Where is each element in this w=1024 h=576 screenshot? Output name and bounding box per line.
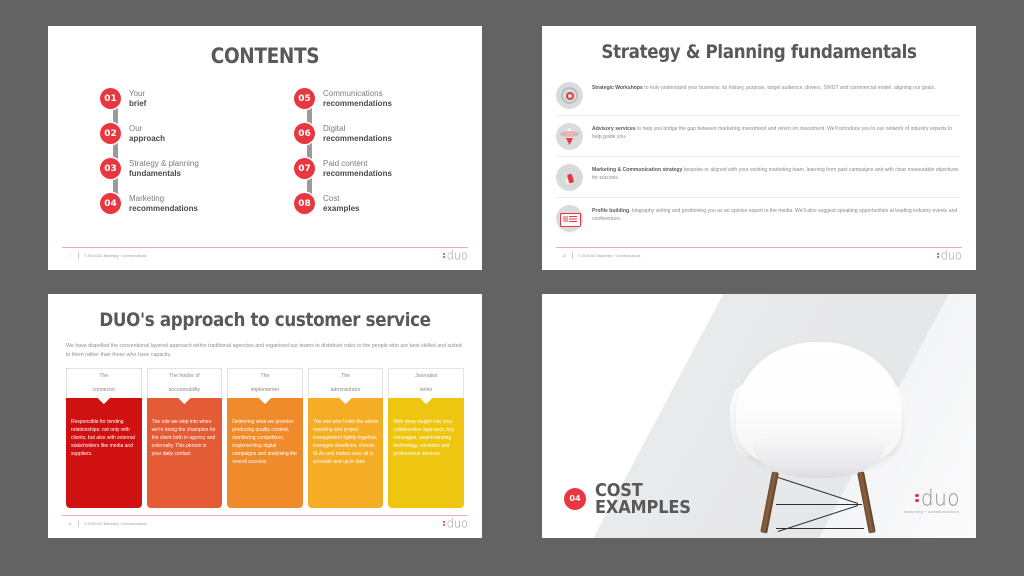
list-item[interactable]: 03 Strategy & planning fundamentals (100, 151, 264, 186)
contents-item-line2: approach (129, 134, 165, 143)
footer-divider (78, 252, 79, 259)
feature-list: Strategic Workshops to truly understand … (542, 75, 976, 238)
contents-item-line1: Strategy & planning (129, 159, 199, 168)
contents-item-line1: Marketing (129, 194, 198, 203)
target-icon (556, 82, 583, 109)
role-title-line1: The (328, 373, 364, 380)
role-card-body: The role we step into when we're being t… (147, 398, 223, 508)
contents-column-right: 05 Communications recommendations 06 Dig… (294, 81, 458, 221)
contents-item-line1: Digital (323, 124, 392, 133)
contents-item-line1: Paid content (323, 159, 392, 168)
role-title-line2: writer (412, 387, 440, 394)
contents-item-line2: recommendations (323, 169, 392, 178)
role-card-title: The administrator (325, 373, 367, 395)
slide-contents[interactable]: CONTENTS 01 Your brief 02 Our approach (48, 26, 482, 270)
role-title-line2: implementer (248, 387, 283, 394)
role-card[interactable]: The connector Responsible for tending re… (66, 368, 142, 508)
list-item[interactable]: 06 Digital recommendations (294, 116, 458, 151)
duo-logo-large: duo marketing + communications (904, 488, 960, 514)
contents-item-line2: brief (129, 99, 146, 108)
feature-lead: Strategic Workshops (592, 85, 643, 91)
role-card-description: The one who holds the admin reporting an… (313, 419, 379, 466)
role-card-row: The connector Responsible for tending re… (66, 368, 464, 508)
role-title-line2: accountability (166, 387, 203, 394)
contents-item-line2: recommendations (129, 204, 198, 213)
role-title-line1: The (248, 373, 283, 380)
role-card-description: With deep insight into your collaborativ… (393, 419, 459, 458)
feature-lead: Profile building (592, 208, 629, 214)
role-card-header: The connector (66, 368, 142, 398)
slide-strategy-planning[interactable]: Strategy & Planning fundamentals Strateg… (542, 26, 976, 270)
role-title-line2: administrator (328, 387, 364, 394)
role-card-body: Delivering what we promise: producing qu… (227, 398, 303, 508)
step-number-badge: 06 (294, 123, 315, 144)
role-title-line1: The holder of (166, 373, 203, 380)
contents-item-line1: Communications (323, 89, 392, 98)
step-number-badge: 01 (100, 88, 121, 109)
contents-item-line1: Our (129, 124, 165, 133)
logo-dots-icon (937, 253, 939, 259)
list-item[interactable]: Strategic Workshops to truly understand … (556, 75, 960, 116)
footer-divider (572, 252, 573, 259)
feature-text: Strategic Workshops to truly understand … (592, 81, 935, 93)
list-item[interactable]: 01 Your brief (100, 81, 264, 116)
feature-body: to truly understand your business, its h… (643, 85, 936, 91)
chair-wire-brace (776, 528, 864, 529)
role-card-description: Responsible for tending relationships: n… (71, 419, 137, 458)
role-card[interactable]: The administrator The one who holds the … (308, 368, 384, 508)
feature-body: to help you bridge the gap between marke… (592, 126, 952, 140)
feature-body: , biography writing and positioning you … (592, 208, 957, 222)
step-number-badge: 08 (294, 193, 315, 214)
list-item[interactable]: 07 Paid content recommendations (294, 151, 458, 186)
role-title-line1: Journalist (412, 373, 440, 380)
feature-text: Advisory services to help you bridge the… (592, 122, 960, 142)
footer-divider (78, 520, 79, 527)
slide-thumbnail-grid: CONTENTS 01 Your brief 02 Our approach (0, 0, 1024, 576)
footer-page-number: 11 (62, 522, 78, 526)
role-title-line2: connector (89, 387, 118, 394)
role-card-title: The connector (86, 373, 121, 395)
logo-dots-icon (443, 521, 445, 527)
role-card-title: The holder of accountability (163, 373, 206, 395)
list-item[interactable]: Marketing & Communication strategy bespo… (556, 157, 960, 198)
role-card-description: The role we step into when we're being t… (152, 419, 218, 458)
chair-leg-left (760, 471, 779, 533)
role-card-header: The holder of accountability (147, 368, 223, 398)
page-title: COST EXAMPLES (595, 482, 691, 516)
role-card-body: With deep insight into your collaborativ… (388, 398, 464, 508)
role-card-header: Journalist writer (388, 368, 464, 398)
step-number-badge: 05 (294, 88, 315, 109)
step-number-badge: 03 (100, 158, 121, 179)
chair-illustration (728, 332, 908, 532)
contents-item-text: Digital recommendations (323, 124, 392, 143)
list-item[interactable]: Profile building, biography writing and … (556, 198, 960, 238)
role-card-body: The one who holds the admin reporting an… (308, 398, 384, 508)
footer-page-number: 7 (62, 254, 78, 258)
contents-item-text: Strategy & planning fundamentals (129, 159, 199, 178)
feature-lead: Advisory services (592, 126, 636, 132)
duo-logo: duo (443, 250, 468, 261)
contents-item-text: Our approach (129, 124, 165, 143)
feature-text: Marketing & Communication strategy bespo… (592, 163, 960, 183)
slide-footer: 11 © 2018 DUO Marketing + Communications… (62, 515, 468, 531)
logo-wordmark: duo (941, 249, 962, 261)
slide-cost-examples[interactable]: 04 COST EXAMPLES duo marketing + communi… (542, 294, 976, 538)
contents-item-line2: fundamentals (129, 169, 199, 178)
contents-columns: 01 Your brief 02 Our approach 03 (48, 81, 482, 221)
list-item[interactable]: 08 Cost examples (294, 186, 458, 221)
list-item[interactable]: 04 Marketing recommendations (100, 186, 264, 221)
role-card[interactable]: The holder of accountability The role we… (147, 368, 223, 508)
role-card-description: Delivering what we promise: producing qu… (232, 419, 298, 466)
slide-footer: 13 © 2018 DUO Marketing + Communications… (556, 247, 962, 263)
feature-text: Profile building, biography writing and … (592, 204, 960, 224)
role-title-line1: The (89, 373, 118, 380)
logo-wordmark: duo (921, 487, 960, 509)
footer-copyright: © 2018 DUO Marketing + Communications (84, 522, 146, 526)
footer-copyright: © 2018 DUO Marketing + Communications (578, 254, 640, 258)
contents-item-line1: Cost (323, 194, 359, 203)
contents-item-line2: recommendations (323, 134, 392, 143)
cost-title-line2: EXAMPLES (595, 499, 691, 516)
role-card[interactable]: Journalist writer With deep insight into… (388, 368, 464, 508)
footer-copyright: © 2018 DUO Marketing + Communications (84, 254, 146, 258)
role-card-title: Journalist writer (409, 373, 443, 395)
chair-wire-brace (778, 477, 858, 504)
contents-item-text: Cost examples (323, 194, 359, 213)
logo-row: duo (904, 488, 960, 508)
id-card-icon (556, 205, 583, 232)
logo-dots-icon (915, 494, 919, 502)
feature-lead: Marketing & Communication strategy (592, 167, 682, 173)
step-number-badge: 02 (100, 123, 121, 144)
footer-page-number: 13 (556, 254, 572, 258)
contents-item-line2: examples (323, 204, 359, 213)
rocket-icon (556, 123, 583, 150)
section-number-badge: 04 (564, 488, 586, 510)
click-hand-icon (556, 164, 583, 191)
role-card-body: Responsible for tending relationships: n… (66, 398, 142, 508)
contents-item-line1: Your (129, 89, 146, 98)
cost-title-group: 04 COST EXAMPLES (564, 482, 701, 516)
contents-item-text: Marketing recommendations (129, 194, 198, 213)
list-item[interactable]: 02 Our approach (100, 116, 264, 151)
duo-logo: duo (937, 250, 962, 261)
role-card-title: The implementer (245, 373, 286, 395)
slide-customer-service-approach[interactable]: DUO's approach to customer service We ha… (48, 294, 482, 538)
intro-paragraph: We have dispelled the conventional layer… (66, 342, 464, 359)
logo-wordmark: duo (447, 249, 468, 261)
contents-item-line2: recommendations (323, 99, 392, 108)
chair-leg-right (857, 471, 876, 533)
duo-logo: duo (443, 518, 468, 529)
page-title: Strategy & Planning fundamentals (568, 41, 950, 63)
step-number-badge: 04 (100, 193, 121, 214)
page-title: CONTENTS (74, 44, 456, 68)
list-item[interactable]: Advisory services to help you bridge the… (556, 116, 960, 157)
contents-column-left: 01 Your brief 02 Our approach 03 (100, 81, 264, 221)
step-number-badge: 07 (294, 158, 315, 179)
slide-footer: 7 © 2018 DUO Marketing + Communications … (62, 247, 468, 263)
chair-wire-brace (776, 504, 862, 505)
role-card[interactable]: The implementer Delivering what we promi… (227, 368, 303, 508)
list-item[interactable]: 05 Communications recommendations (294, 81, 458, 116)
contents-item-text: Communications recommendations (323, 89, 392, 108)
page-title: DUO's approach to customer service (74, 309, 456, 331)
logo-dots-icon (443, 253, 445, 259)
contents-item-text: Paid content recommendations (323, 159, 392, 178)
role-card-header: The implementer (227, 368, 303, 398)
contents-item-text: Your brief (129, 89, 146, 108)
role-card-header: The administrator (308, 368, 384, 398)
logo-wordmark: duo (447, 517, 468, 529)
